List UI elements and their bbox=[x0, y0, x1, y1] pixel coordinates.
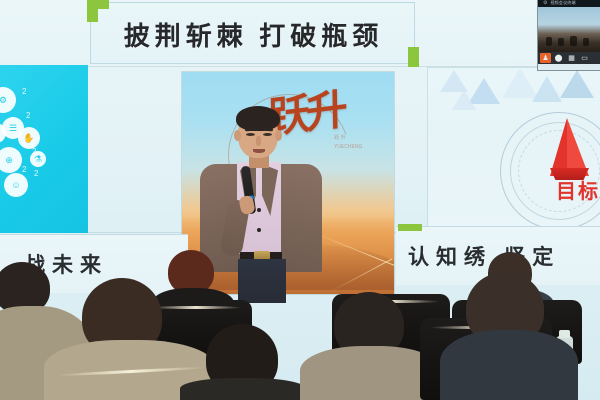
decor-dot: 2 bbox=[22, 165, 26, 174]
jacket-button bbox=[257, 228, 261, 232]
banner-title: 披荆斩棘 打破瓶颈 bbox=[91, 3, 416, 65]
vc-window-title: 视频会议终端 bbox=[550, 0, 575, 6]
presenter-eye-right bbox=[263, 133, 272, 136]
red-crystal-left-facet-icon bbox=[550, 118, 567, 176]
microphone-icon[interactable]: ⬤ bbox=[553, 53, 564, 63]
triangle-decor-icon bbox=[532, 76, 562, 102]
participants-icon[interactable]: ♟ bbox=[540, 53, 551, 63]
presenter-eye-left bbox=[246, 133, 255, 136]
right-projection-screen: 目标 bbox=[428, 68, 600, 228]
presenter-ear-right bbox=[275, 130, 282, 141]
vc-figure bbox=[570, 36, 577, 46]
vc-figure bbox=[583, 38, 589, 46]
vc-app-icon: ⚙ bbox=[543, 0, 547, 6]
vc-figure bbox=[558, 38, 564, 46]
decor-dot: 2 bbox=[34, 169, 38, 178]
globe-icon: ⊕ bbox=[0, 147, 22, 173]
jacket-button bbox=[257, 208, 261, 212]
red-crystal-right-facet-icon bbox=[567, 118, 589, 176]
vc-figure bbox=[546, 37, 552, 46]
wall-seam-upper bbox=[0, 66, 600, 67]
left-graphic-panel: ⚙ ☰ ☼ ✋ ⊕ ☺ ⚗ 2 2 2 2 2 bbox=[0, 65, 88, 233]
triangle-decor-icon bbox=[452, 90, 476, 110]
right-screen-headline: 目标 bbox=[556, 175, 600, 204]
decor-dot: 2 bbox=[22, 87, 26, 96]
presenter-hair bbox=[236, 106, 280, 131]
vc-toolbar[interactable]: ♟ ⬤ ▦ ▭ bbox=[538, 52, 600, 64]
triangle-decor-icon bbox=[440, 70, 468, 92]
screenshot-root: 披荆斩棘 打破瓶颈 ⚙ ☰ ☼ ✋ ⊕ ☺ ⚗ 2 2 2 2 2 跃升 跃 升… bbox=[0, 0, 600, 400]
presenter-nose bbox=[256, 136, 261, 146]
vc-titlebar: ⚙ 视频会议终端 bbox=[538, 0, 600, 7]
video-conference-monitor[interactable]: ⚙ 视频会议终端 ♟ ⬤ ▦ ▭ bbox=[538, 0, 600, 70]
decor-dot: 2 bbox=[32, 147, 36, 156]
lower-right-banner-text: 认知绣 坚定 bbox=[408, 241, 560, 271]
water-bottle-cap bbox=[559, 330, 570, 338]
presenter-figure bbox=[196, 104, 336, 300]
person-icon: ☺ bbox=[4, 173, 28, 197]
audience-member-5-shoulders bbox=[180, 378, 306, 400]
decor-dot: 2 bbox=[26, 111, 30, 120]
presenter-mouth bbox=[253, 149, 265, 153]
hand-icon: ✋ bbox=[18, 127, 40, 149]
audience-member-4b-shoulders bbox=[440, 330, 578, 400]
camera-icon[interactable]: ▭ bbox=[579, 53, 590, 63]
presenter-ear-left bbox=[234, 130, 241, 141]
vc-video-feed bbox=[538, 7, 600, 53]
gear-icon: ⚙ bbox=[0, 87, 16, 113]
vc-monitor-bezel bbox=[538, 64, 600, 70]
title-banner: 披荆斩棘 打破瓶颈 bbox=[90, 2, 415, 64]
layout-icon[interactable]: ▦ bbox=[566, 53, 577, 63]
bracket-green-icon bbox=[398, 224, 422, 231]
chair-highlight bbox=[150, 306, 242, 309]
triangle-decor-icon bbox=[560, 70, 594, 98]
presenter-trousers bbox=[238, 259, 286, 303]
